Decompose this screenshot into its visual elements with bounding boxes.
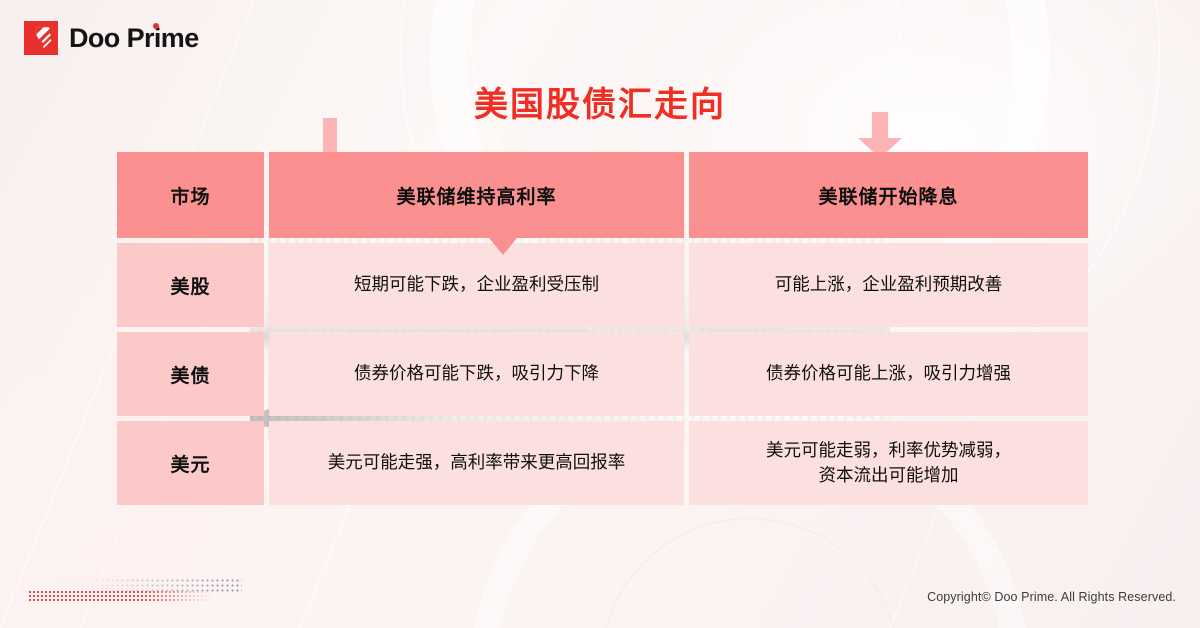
decorative-dot-pattern-red (28, 590, 214, 602)
cell-stocks-high-rates: 短期可能下跌，企业盈利受压制 (269, 243, 684, 327)
row-label-bonds: 美债 (117, 332, 264, 416)
cell-bonds-rate-cuts: 债券价格可能上涨，吸引力增强 (689, 332, 1088, 416)
cell-dollar-high-rates: 美元可能走强，高利率带来更高回报率 (269, 421, 684, 505)
row-label-stocks: 美股 (117, 243, 264, 327)
cell-dollar-rate-cuts-line1: 美元可能走弱，利率优势减弱， (766, 438, 1011, 463)
table-row: 美债 债券价格可能下跌，吸引力下降 债券价格可能上涨，吸引力增强 (117, 332, 1083, 416)
cell-bonds-high-rates: 债券价格可能下跌，吸引力下降 (269, 332, 684, 416)
comparison-table: 市场 美联储维持高利率 美联储开始降息 美股 短期可能下跌，企业盈利受压制 可能… (117, 152, 1083, 510)
cell-dollar-rate-cuts: 美元可能走弱，利率优势减弱， 资本流出可能增加 (689, 421, 1088, 505)
brand-logo: Doo Prime (24, 21, 199, 55)
header-pointer-notch-icon (489, 238, 517, 255)
table-header-high-rates: 美联储维持高利率 (269, 152, 684, 238)
table-header-rate-cuts: 美联储开始降息 (689, 152, 1088, 238)
cell-dollar-rate-cuts-line2: 资本流出可能增加 (766, 463, 1011, 488)
brand-name: Doo Prime (69, 25, 199, 52)
slide-canvas: Doo Prime 美国股债汇走向 市场 美联储维持高利率 美联储开始降息 美股… (0, 0, 1200, 628)
cell-stocks-rate-cuts: 可能上涨，企业盈利预期改善 (689, 243, 1088, 327)
footer-copyright: Copyright© Doo Prime. All Rights Reserve… (927, 590, 1176, 604)
brand-accent-dot-icon (153, 23, 159, 29)
brand-name-text: Doo Prime (69, 23, 199, 53)
table-row: 美元 美元可能走强，高利率带来更高回报率 美元可能走弱，利率优势减弱， 资本流出… (117, 421, 1083, 505)
table-header-row: 市场 美联储维持高利率 美联储开始降息 (117, 152, 1083, 238)
doo-prime-flag-icon (24, 21, 58, 55)
table-header-market: 市场 (117, 152, 264, 238)
row-label-dollar: 美元 (117, 421, 264, 505)
table-row: 美股 短期可能下跌，企业盈利受压制 可能上涨，企业盈利预期改善 (117, 243, 1083, 327)
page-title: 美国股债汇走向 (0, 77, 1200, 126)
